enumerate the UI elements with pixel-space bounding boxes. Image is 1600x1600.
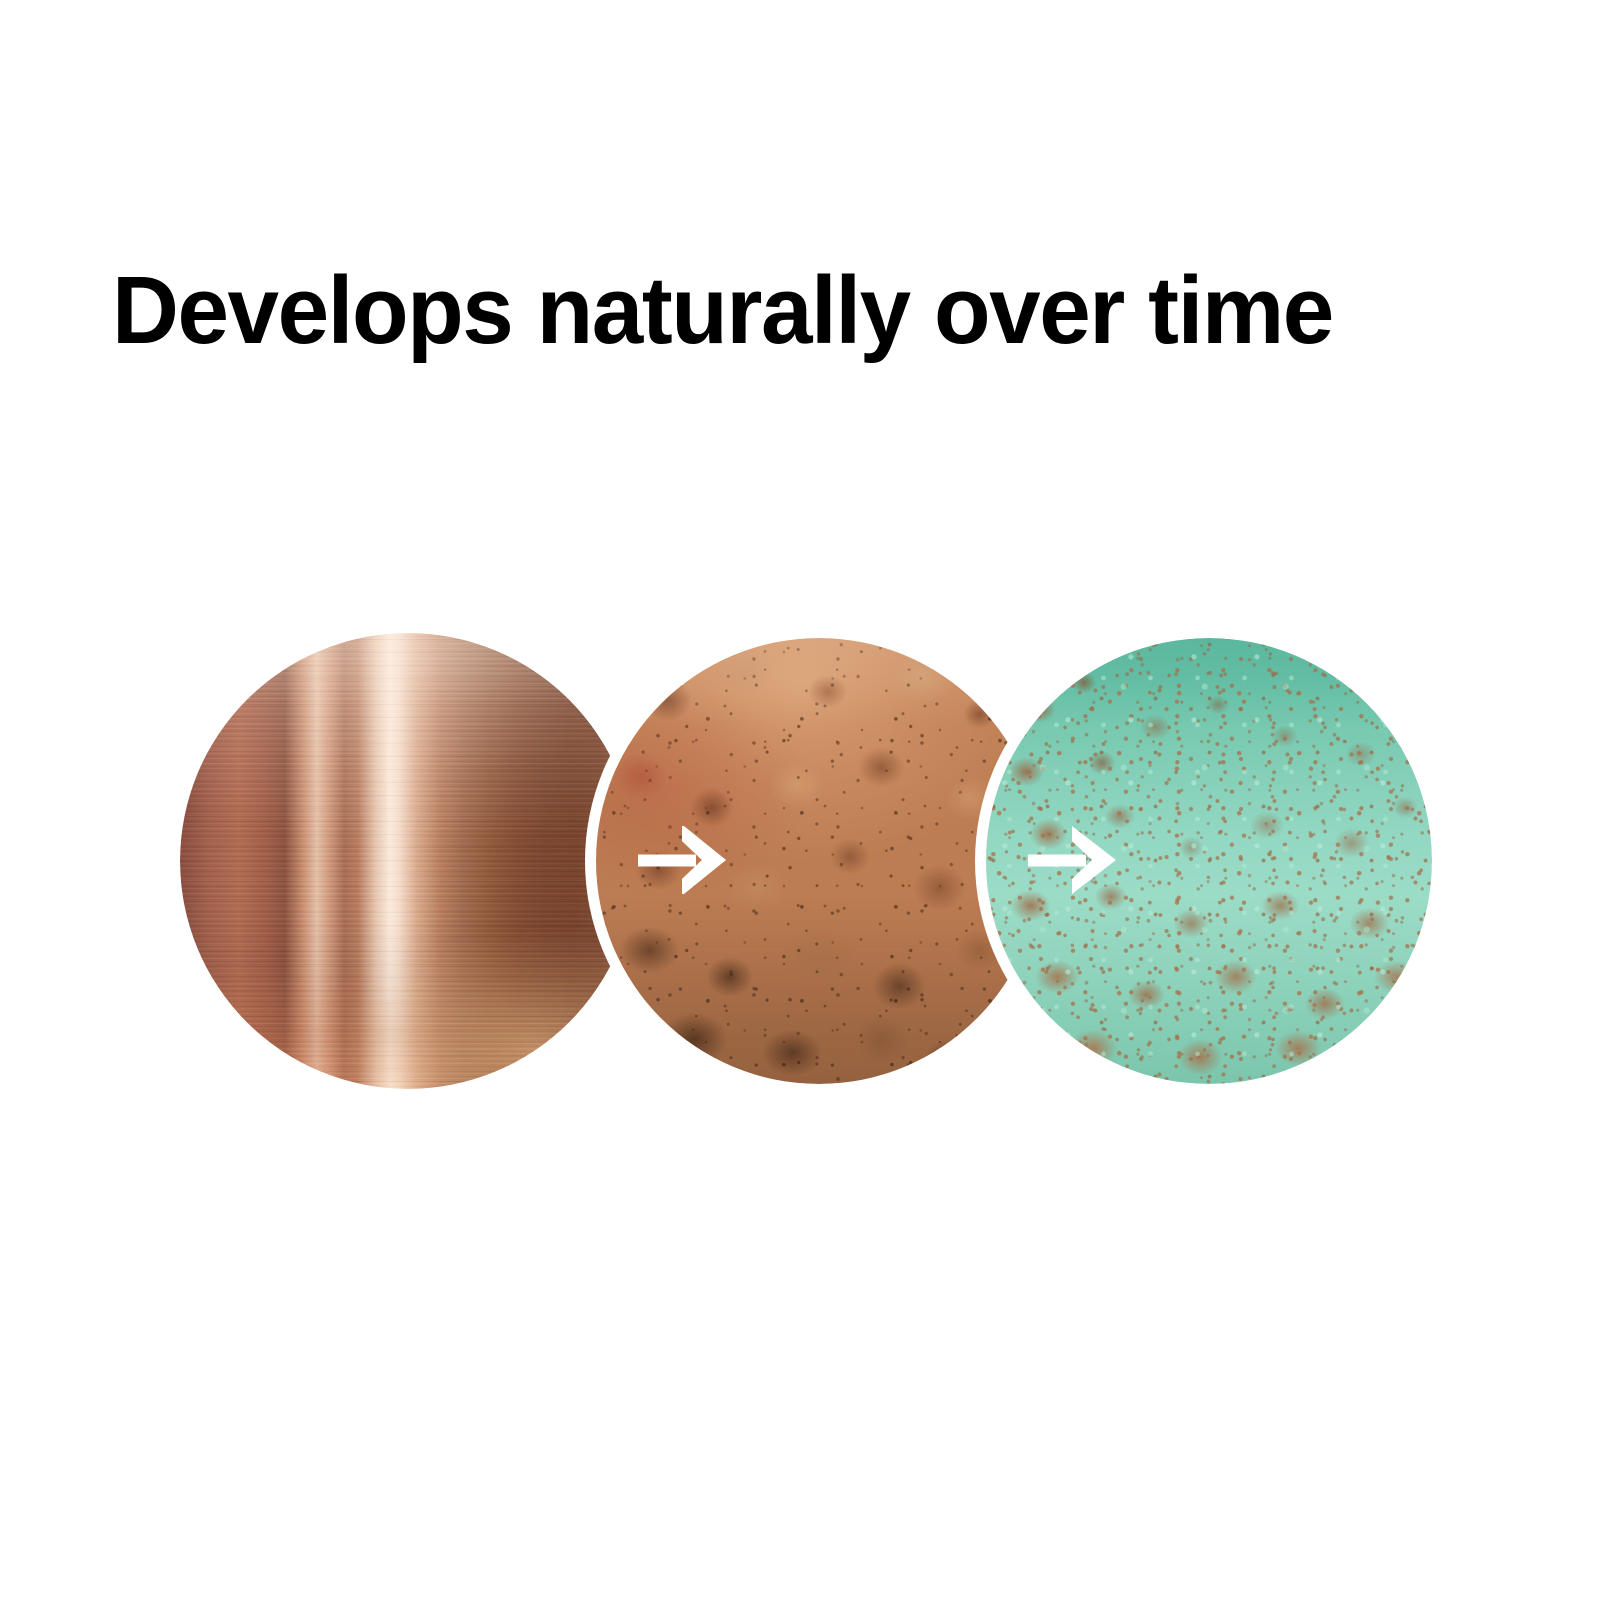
patina-mint-spots xyxy=(986,638,1432,1084)
stage-green-patina[interactable] xyxy=(986,638,1432,1084)
poster-canvas: Develops naturally over time xyxy=(0,0,1600,1600)
stage-polished-copper[interactable] xyxy=(180,633,636,1089)
stage-oxidized-copper[interactable] xyxy=(596,638,1042,1084)
brushed-metal-lines-coarse xyxy=(180,633,636,1089)
rust-vertical-shading xyxy=(596,638,1042,1084)
copper-patina-progression xyxy=(0,0,1600,1600)
